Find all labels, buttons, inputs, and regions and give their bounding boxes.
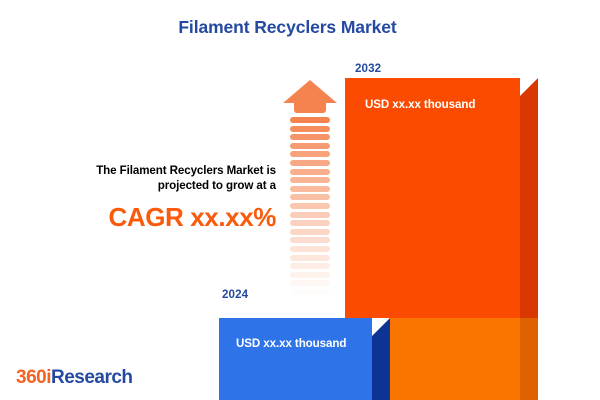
arrow-stripe — [290, 177, 330, 183]
bar-2024-value-label: USD xx.xx thousand — [236, 337, 346, 350]
arrow-stripe — [290, 134, 330, 140]
growth-arrow-icon — [283, 80, 337, 305]
market-infographic: Filament Recyclers Market The Filament R… — [0, 0, 600, 400]
arrow-stripe — [290, 272, 330, 278]
bar-2024-face — [219, 318, 372, 400]
arrow-stripe — [290, 143, 330, 149]
cagr-value: CAGR xx.xx% — [18, 202, 276, 232]
brand-logo: 360iResearch — [16, 367, 133, 389]
arrow-stripe — [290, 220, 330, 226]
cagr-callout: The Filament Recyclers Market is project… — [18, 163, 276, 232]
arrow-stripe — [290, 280, 330, 286]
arrow-stripe — [290, 151, 330, 157]
arrow-stripe — [290, 126, 330, 132]
arrow-stripe — [290, 212, 330, 218]
year-label-2024: 2024 — [222, 288, 248, 301]
callout-line-2: projected to grow at a — [18, 178, 276, 193]
bar-2032-bevel — [520, 78, 538, 96]
page-title: Filament Recyclers Market — [0, 17, 575, 38]
bar-2032-value-label: USD xx.xx thousand — [365, 98, 475, 111]
arrow-stripe — [290, 160, 330, 166]
arrow-stripes — [290, 117, 330, 305]
year-label-2032: 2032 — [355, 62, 381, 75]
arrow-stripe — [290, 237, 330, 243]
arrow-stripe — [290, 186, 330, 192]
arrow-stripe — [290, 263, 330, 269]
arrow-stripe — [290, 289, 330, 295]
arrow-head-icon — [283, 80, 337, 113]
arrow-neck-icon — [294, 102, 326, 113]
bar-2032-base-side — [520, 318, 538, 400]
arrow-stripe — [290, 255, 330, 261]
logo-mark: 360i — [16, 367, 51, 388]
bar-2024: USD xx.xx thousand — [219, 318, 372, 400]
arrow-triangle-icon — [283, 80, 337, 103]
bar-2024-bevel — [372, 318, 390, 336]
arrow-stripe — [290, 297, 330, 303]
arrow-stripe — [290, 169, 330, 175]
callout-line-1: The Filament Recyclers Market is — [18, 163, 276, 178]
logo-word: Research — [51, 367, 133, 388]
arrow-stripe — [290, 117, 330, 123]
arrow-stripe — [290, 203, 330, 209]
arrow-stripe — [290, 246, 330, 252]
arrow-stripe — [290, 229, 330, 235]
arrow-stripe — [290, 194, 330, 200]
